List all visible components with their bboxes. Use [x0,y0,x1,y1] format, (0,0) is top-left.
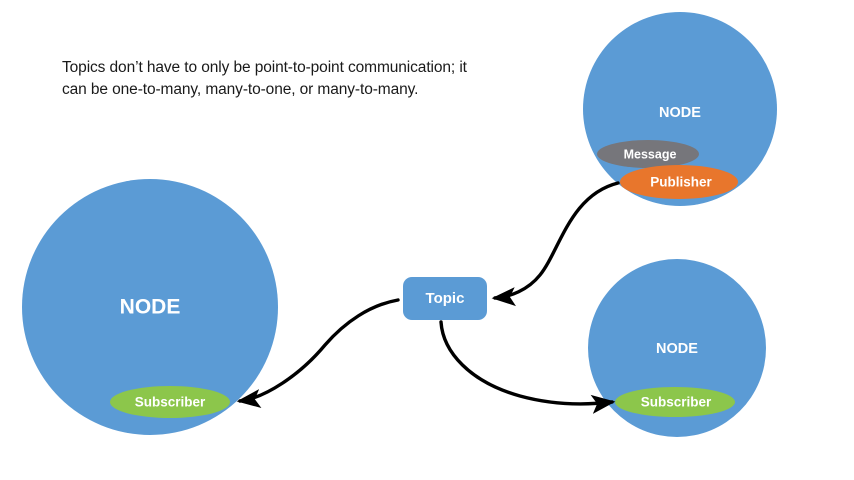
node-bottom-right[interactable]: NODE Subscriber [588,259,766,437]
diagram-canvas: Topics don’t have to only be point-to-po… [0,0,854,480]
message-callout-label: Message [624,147,677,161]
node-top-right-label: NODE [659,105,701,121]
node-bottom-right-label: NODE [656,341,698,357]
publisher-pill-label: Publisher [650,175,712,190]
node-top-right[interactable]: NODE Message Publisher [583,12,777,206]
subscriber-pill-left-label: Subscriber [135,395,206,410]
node-left-label: NODE [120,296,181,319]
ros-topic-diagram: NODE Subscriber NODE Message Publisher N… [0,0,854,480]
topic-box-label: Topic [426,290,465,307]
message-callout[interactable]: Message [597,140,699,168]
topic-box[interactable]: Topic [403,277,487,320]
node-left[interactable]: NODE Subscriber [22,179,278,435]
subscriber-pill-bottom-right-label: Subscriber [641,395,712,410]
connector-topic-to-bottom-right-subscriber [441,322,612,404]
connector-publisher-to-topic [495,183,618,298]
